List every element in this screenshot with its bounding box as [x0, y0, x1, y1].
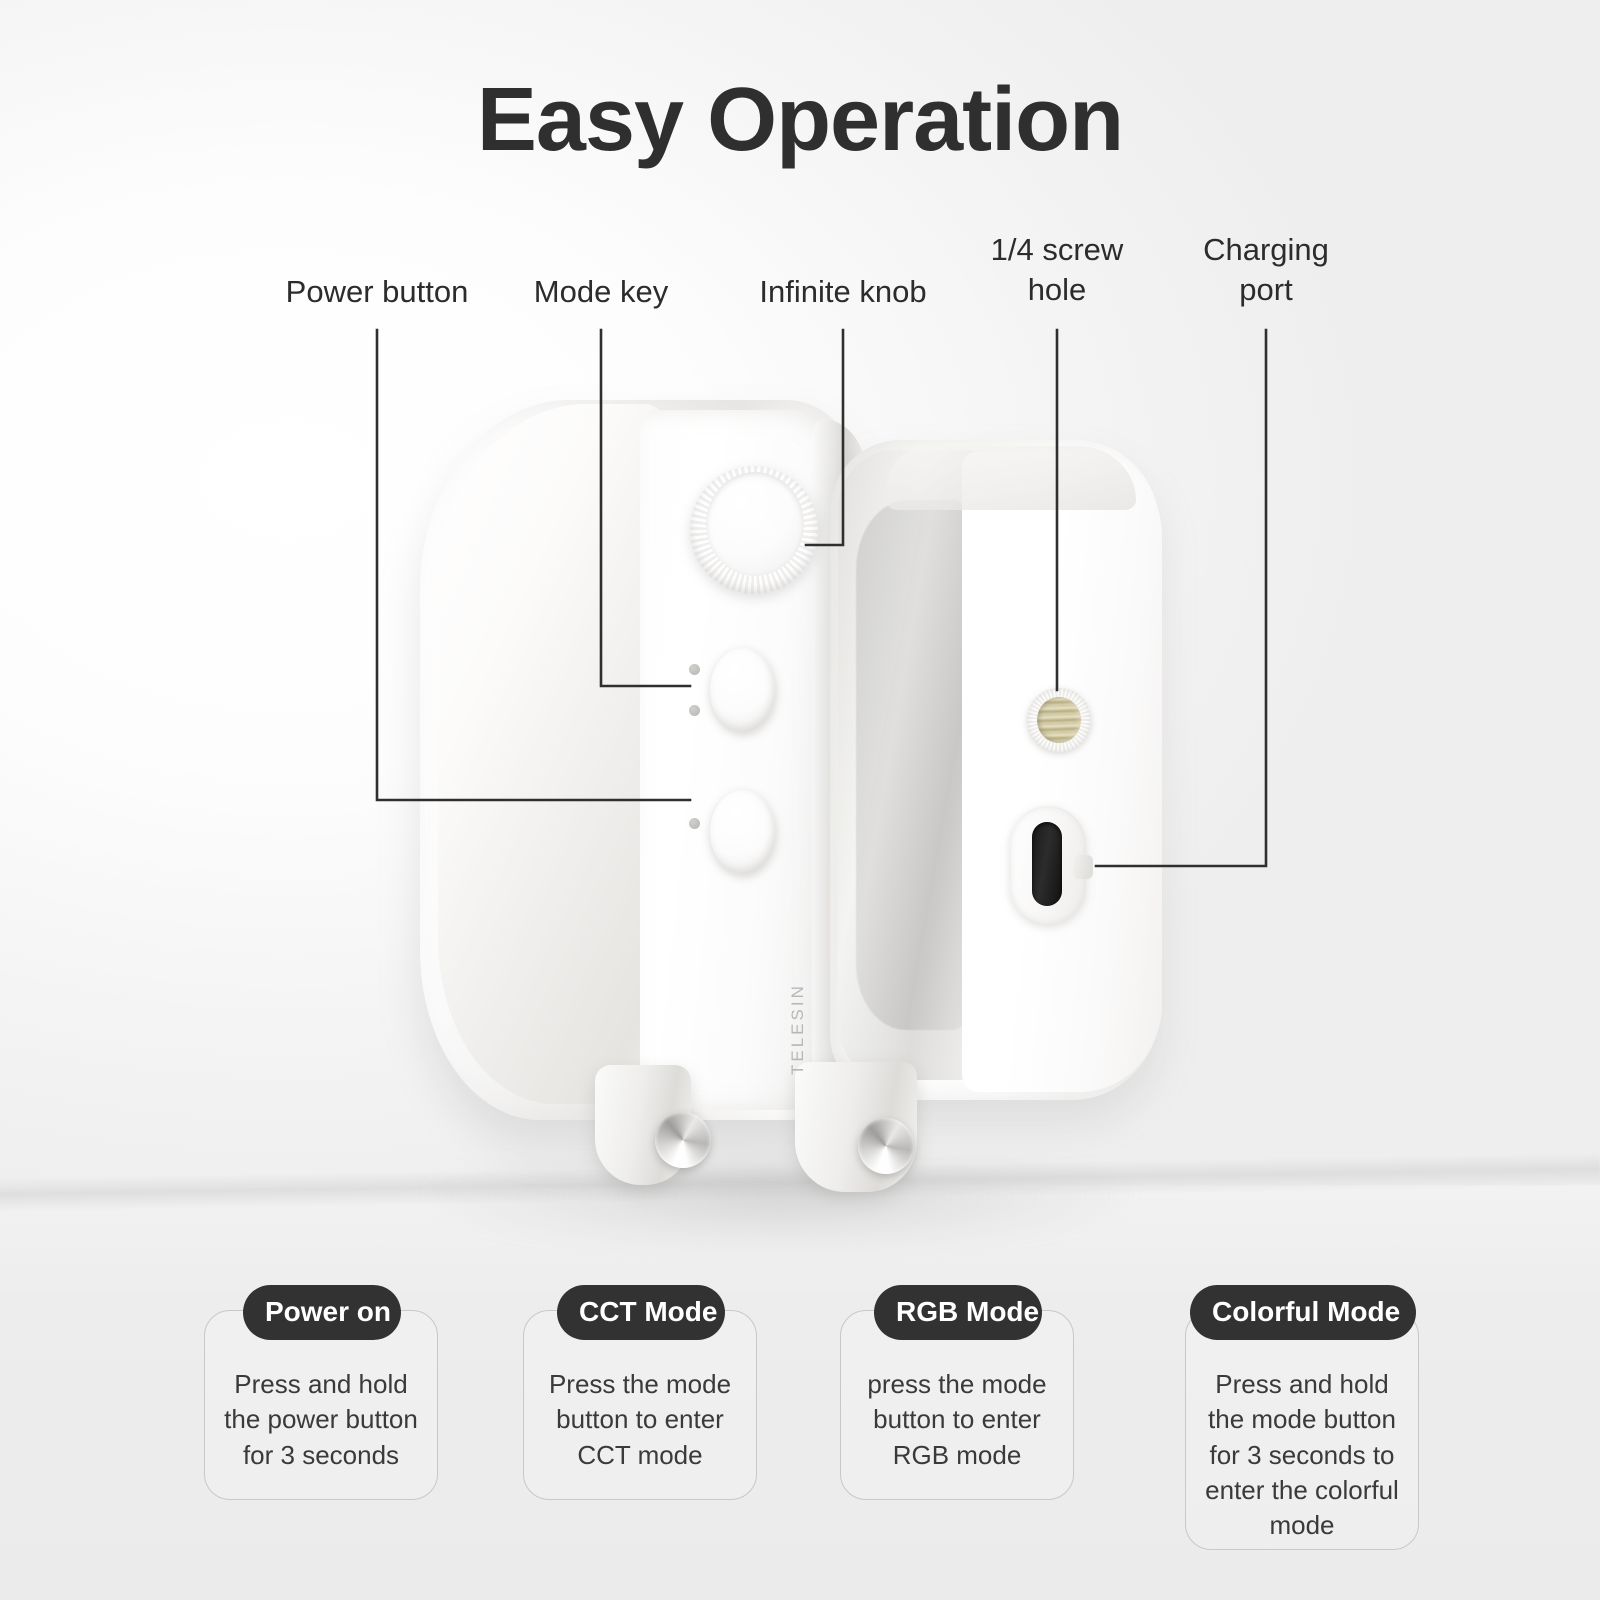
- mode-cards: Power on Press and hold the power button…: [0, 1272, 1600, 1592]
- card-power-on[interactable]: Power on Press and hold the power button…: [204, 1310, 438, 1500]
- badge-rgb-mode: RGB Mode: [874, 1285, 1042, 1340]
- card-text-cct-mode: Press the mode button to enter CCT mode: [524, 1367, 756, 1473]
- callout-mode-key: Mode key: [501, 272, 701, 312]
- badge-cct-mode: CCT Mode: [557, 1285, 725, 1340]
- callout-power-button: Power button: [247, 272, 507, 312]
- mode-key-button[interactable]: [710, 648, 776, 732]
- callout-screw-hole: 1/4 screw hole: [962, 230, 1152, 309]
- led-indicator-icon: [689, 818, 700, 829]
- card-text-power-on: Press and hold the power button for 3 se…: [205, 1367, 437, 1473]
- badge-colorful-mode: Colorful Mode: [1190, 1285, 1416, 1340]
- card-text-rgb-mode: press the mode button to enter RGB mode: [841, 1367, 1073, 1473]
- card-cct-mode[interactable]: CCT Mode Press the mode button to enter …: [523, 1310, 757, 1500]
- right-unit-back-face: [962, 452, 1162, 1092]
- led-indicator-icon: [689, 664, 700, 675]
- card-rgb-mode[interactable]: RGB Mode press the mode button to enter …: [840, 1310, 1074, 1500]
- screw-hole-icon: [1037, 697, 1081, 743]
- power-button[interactable]: [710, 790, 776, 874]
- thumbscrew-icon: [858, 1118, 914, 1174]
- scene-background: Easy Operation TELESIN: [0, 0, 1600, 1600]
- thumbscrew-icon: [655, 1112, 711, 1168]
- badge-power-on: Power on: [243, 1285, 401, 1340]
- card-text-colorful-mode: Press and hold the mode button for 3 sec…: [1186, 1367, 1418, 1544]
- callout-charging-port: Charging port: [1160, 230, 1372, 309]
- callout-infinite-knob: Infinite knob: [723, 272, 963, 312]
- infinite-knob-cap: [706, 472, 804, 576]
- right-unit-top-cap: [886, 446, 1136, 510]
- right-unit-inner-recess: [856, 500, 968, 1030]
- charging-port-icon: [1032, 822, 1062, 906]
- charging-port-tab: [1073, 855, 1093, 879]
- led-indicator-icon: [689, 705, 700, 716]
- diffuser-panel: [438, 404, 668, 1104]
- brand-mark: TELESIN: [788, 983, 808, 1075]
- card-colorful-mode[interactable]: Colorful Mode Press and hold the mode bu…: [1185, 1310, 1419, 1550]
